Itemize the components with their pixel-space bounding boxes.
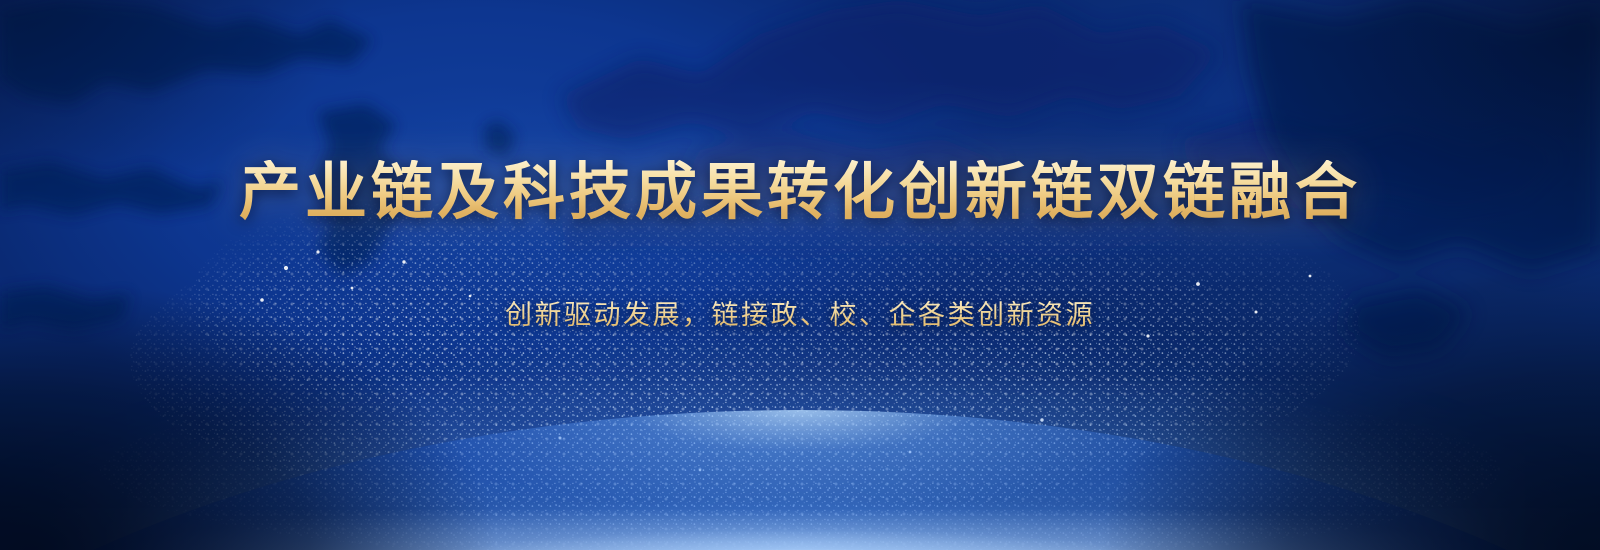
banner-content: 产业链及科技成果转化创新链双链融合 创新驱动发展，链接政、校、企各类创新资源 xyxy=(0,0,1600,550)
banner-title: 产业链及科技成果转化创新链双链融合 xyxy=(239,160,1361,227)
hero-banner: 产业链及科技成果转化创新链双链融合 创新驱动发展，链接政、校、企各类创新资源 xyxy=(0,0,1600,550)
banner-subtitle: 创新驱动发展，链接政、校、企各类创新资源 xyxy=(505,293,1095,332)
